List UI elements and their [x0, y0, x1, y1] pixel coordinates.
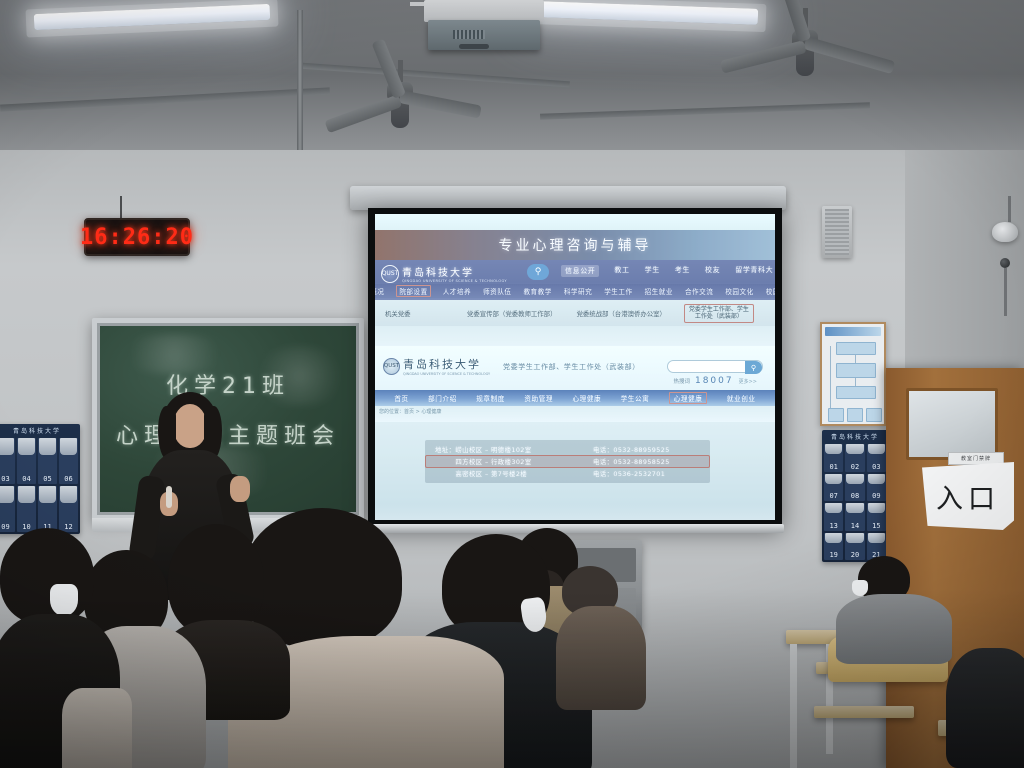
presenter-remote — [166, 486, 172, 508]
projector-vent — [453, 30, 485, 39]
site-main-nav: 学校概况 院部设置 人才培养 师资队伍 教育教学 科学研究 学生工作 招生就业 … — [375, 284, 775, 298]
projector-screen-housing — [350, 186, 786, 210]
clock-body: 16:26:20 — [84, 218, 190, 256]
ceiling-projector — [424, 0, 544, 52]
breadcrumb-bar: 您的位置：首页 > 心理健康 — [375, 406, 775, 422]
led-wall-clock: 16:26:20 — [84, 218, 190, 256]
pocket-slot[interactable]: 03 — [0, 438, 15, 484]
contact-row: 高密校区 – 第7号楼2楼 电话：0536-2532701 — [425, 468, 710, 479]
pocket-number: 09 — [872, 492, 880, 500]
pocket-slot[interactable]: 11 — [38, 486, 57, 532]
pocket-slot[interactable]: 15 — [867, 503, 886, 531]
projector-mount — [410, 2, 424, 6]
pocket-slot[interactable]: 04 — [17, 438, 36, 484]
hot-search-label: 热搜词 — [673, 377, 690, 385]
dept-item-0[interactable]: 党委宣传部（党委教师工作部） — [467, 309, 556, 318]
hot-search: 热搜词 18007 更多>> — [673, 376, 757, 386]
projection-screen-surface: 专业心理咨询与辅导 QUST 青岛科技大学 QINGDAO UNIVERSITY… — [375, 214, 775, 520]
student-torso — [836, 594, 952, 664]
pocket-slot[interactable]: 06 — [59, 438, 78, 484]
dept-nav-1[interactable]: 部门介绍 — [428, 393, 457, 403]
nav-item-7[interactable]: 招生就业 — [645, 286, 673, 296]
poster-node — [866, 408, 882, 422]
ceiling-fan — [340, 60, 460, 140]
department-university-name-en: QINGDAO UNIVERSITY OF SCIENCE & TECHNOLO… — [403, 372, 490, 376]
nav-item-9[interactable]: 校园文化 — [725, 286, 753, 296]
hot-search-more[interactable]: 更多>> — [739, 378, 757, 385]
contact-card: 地址：崂山校区 – 明德楼102室 电话：0532-88959525 四方校区 … — [425, 440, 710, 483]
dept-nav-5[interactable]: 学生公寓 — [621, 393, 650, 403]
pocket-chart-title: 青岛科技大学 — [822, 432, 888, 441]
pocket-chart-title: 青岛科技大学 — [0, 426, 80, 435]
department-title: 党委学生工作部、学生工作处（武装部） — [503, 362, 640, 372]
pocket-slot[interactable]: 02 — [845, 444, 864, 472]
pocket-number: 01 — [829, 463, 837, 471]
desk-leg — [790, 644, 797, 768]
department-site-header: QUST 青岛科技大学 QINGDAO UNIVERSITY OF SCIENC… — [375, 346, 775, 390]
department-row: 机关党委 党委宣传部（党委教师工作部） 党委统战部（台港澳侨办公室） 党委学生工… — [375, 300, 775, 326]
clock-cable — [120, 196, 122, 218]
contact-address: 高密校区 – 第7号楼2楼 — [435, 469, 585, 478]
site-top-strip — [375, 214, 775, 230]
site-header: QUST 青岛科技大学 QINGDAO UNIVERSITY OF SCIENC… — [375, 260, 775, 300]
pocket-number: 08 — [851, 492, 859, 500]
poster-connector — [830, 346, 831, 408]
instructor-face — [173, 404, 207, 448]
projector-top-plate — [424, 0, 544, 22]
department-logo[interactable]: QUST 青岛科技大学 QINGDAO UNIVERSITY OF SCIENC… — [383, 356, 490, 376]
contact-phone: 电话：0532-88959525 — [593, 445, 670, 454]
projected-website: 专业心理咨询与辅导 QUST 青岛科技大学 QINGDAO UNIVERSITY… — [375, 214, 775, 520]
pocket-slot[interactable]: 05 — [38, 438, 57, 484]
university-seal-icon: QUST — [381, 265, 399, 283]
pocket-number: 03 — [1, 475, 9, 483]
door-window — [906, 388, 998, 460]
department-university-name: 青岛科技大学 — [403, 356, 490, 372]
student — [946, 648, 1024, 768]
face-mask — [50, 584, 78, 616]
quick-link-alumni[interactable]: 校友 — [705, 265, 720, 277]
pocket-slot[interactable]: 09 — [867, 474, 886, 502]
contact-phone: 电话：0536-2532701 — [593, 469, 665, 478]
hanging-pole — [297, 10, 303, 160]
poster-connector — [855, 355, 856, 363]
contact-address: 四方校区 – 行政楼302室 — [435, 457, 585, 466]
contact-row-highlighted: 四方校区 – 行政楼302室 电话：0532-88958525 — [425, 455, 710, 468]
pocket-slot[interactable]: 10 — [17, 486, 36, 532]
presentation-banner: 专业心理咨询与辅导 — [375, 230, 775, 260]
dept-nav-3[interactable]: 资助管理 — [524, 393, 553, 403]
pocket-slot[interactable]: 01 — [824, 444, 843, 472]
pocket-number: 02 — [851, 463, 859, 471]
nav-item-3[interactable]: 师资队伍 — [483, 286, 511, 296]
ceiling-fan — [740, 8, 870, 88]
pocket-number: 15 — [872, 522, 880, 530]
student — [836, 556, 956, 656]
dept-nav-6-active[interactable]: 心理健康 — [669, 392, 708, 404]
student-torso — [946, 648, 1024, 768]
contact-phone: 电话：0532-88958525 — [593, 457, 670, 466]
pocket-number: 04 — [22, 475, 30, 483]
quick-link-applicant[interactable]: 考生 — [675, 265, 690, 277]
phone-pocket-chart-right: 青岛科技大学 01 02 03 07 08 09 13 14 15 19 20 … — [822, 430, 888, 562]
door-plate-text: 教室门禁牌 — [961, 455, 991, 462]
university-name: 青岛科技大学 — [402, 264, 507, 279]
pocket-slot[interactable]: 12 — [59, 486, 78, 532]
search-icon[interactable]: ⚲ — [745, 361, 762, 374]
site-quick-links: 信息公开 教工 学生 考生 校友 留学青科大 ENGLISH — [561, 265, 775, 277]
banner-title: 专业心理咨询与辅导 — [499, 235, 652, 255]
dept-nav-4[interactable]: 心理健康 — [572, 393, 601, 403]
pocket-slot[interactable]: 08 — [845, 474, 864, 502]
poster-node — [828, 408, 844, 422]
quick-link-staff[interactable]: 教工 — [614, 265, 629, 277]
quick-link-student[interactable]: 学生 — [645, 265, 660, 277]
pocket-number: 05 — [43, 475, 51, 483]
pocket-slot[interactable]: 03 — [867, 444, 886, 472]
camera-mount — [1008, 196, 1011, 222]
nav-item-6[interactable]: 学生工作 — [604, 286, 632, 296]
quick-link-international[interactable]: 留学青科大 — [735, 265, 773, 277]
poster-node — [847, 408, 863, 422]
pocket-slot[interactable]: 09 — [0, 486, 15, 532]
nav-item-8[interactable]: 合作交流 — [685, 286, 713, 296]
breadcrumb: 您的位置：首页 > 心理健康 — [379, 408, 441, 415]
university-seal-icon: QUST — [383, 358, 400, 375]
poster-connector — [855, 378, 856, 386]
student-torso — [556, 606, 646, 710]
camera-mount — [1004, 268, 1007, 316]
projector-lens — [459, 44, 489, 49]
phone-pocket-chart-left: 青岛科技大学 03 04 05 06 09 10 11 12 — [0, 424, 80, 534]
poster-node — [836, 386, 876, 399]
nav-item-1[interactable]: 院部设置 — [396, 285, 430, 297]
pocket-slot[interactable]: 14 — [845, 503, 864, 531]
flowchart-poster — [820, 322, 886, 426]
projector-body — [428, 20, 540, 50]
speaker-grill — [825, 209, 849, 255]
door-plate: 教室门禁牌 — [948, 452, 1004, 465]
site-divider — [375, 326, 775, 346]
pocket-number: 14 — [851, 522, 859, 530]
student — [556, 566, 646, 696]
site-content: 地址：崂山校区 – 明德楼102室 电话：0532-88959525 四方校区 … — [375, 422, 775, 520]
poster-node — [836, 363, 876, 378]
university-logo[interactable]: QUST 青岛科技大学 QINGDAO UNIVERSITY OF SCIENC… — [381, 264, 507, 283]
student — [0, 528, 130, 768]
pocket-number: 07 — [829, 492, 837, 500]
dept-item-highlighted[interactable]: 党委学生工作部、学生工作处（武装部） — [684, 304, 754, 323]
university-name-en: QINGDAO UNIVERSITY OF SCIENCE & TECHNOLO… — [402, 279, 507, 283]
projection-screen: 专业心理咨询与辅导 QUST 青岛科技大学 QINGDAO UNIVERSITY… — [368, 208, 782, 526]
pocket-slot[interactable]: 13 — [824, 503, 843, 531]
student-desk-shelf — [814, 706, 914, 718]
camera-lens-icon — [1000, 258, 1010, 268]
face-mask — [852, 580, 868, 596]
contact-address: 地址：崂山校区 – 明德楼102室 — [435, 445, 585, 454]
pocket-number: 06 — [64, 475, 72, 483]
nav-item-2[interactable]: 人才培养 — [443, 286, 471, 296]
nav-item-5[interactable]: 科学研究 — [564, 286, 592, 296]
search-icon[interactable]: ⚲ — [527, 264, 549, 280]
dept-nav-2[interactable]: 规章制度 — [476, 393, 505, 403]
ceiling-dome-light — [992, 222, 1018, 242]
dept-nav-7[interactable]: 就业创业 — [727, 393, 756, 403]
contact-row: 地址：崂山校区 – 明德楼102室 电话：0532-88959525 — [425, 444, 710, 455]
pocket-number: 13 — [829, 522, 837, 530]
nav-item-4[interactable]: 教育教学 — [523, 286, 551, 296]
nav-item-0[interactable]: 学校概况 — [375, 286, 384, 296]
hot-search-value: 18007 — [695, 376, 734, 386]
dept-nav-0[interactable]: 首页 — [394, 393, 408, 403]
student-hair — [0, 528, 94, 624]
poster-header — [825, 327, 881, 336]
pocket-grid: 03 04 05 06 09 10 11 12 — [0, 438, 78, 532]
dept-label[interactable]: 机关党委 — [385, 309, 449, 318]
search-input[interactable]: ⚲ — [667, 360, 763, 373]
nav-item-10[interactable]: 校园服务 — [766, 286, 775, 296]
poster-node — [836, 342, 876, 355]
classroom-scene: 16:26:20 化学21班 心理健康主题班会 专业心理咨询与辅导 — [0, 0, 1024, 768]
quick-link-info[interactable]: 信息公开 — [561, 265, 599, 277]
instructor-hand-right — [230, 476, 250, 502]
student-bag — [62, 688, 132, 768]
pocket-number: 03 — [872, 463, 880, 471]
entrance-sign-text: 入口 — [936, 477, 1000, 516]
entrance-sign: 入口 — [922, 462, 1014, 530]
pocket-slot[interactable]: 07 — [824, 474, 843, 502]
pocket-grid: 01 02 03 07 08 09 13 14 15 19 20 21 — [824, 444, 886, 560]
department-nav: 首页 部门介绍 规章制度 资助管理 心理健康 学生公寓 心理健康 就业创业 — [375, 390, 775, 406]
dept-item-1[interactable]: 党委统战部（台港澳侨办公室） — [576, 309, 665, 318]
wall-speaker — [822, 206, 852, 258]
clock-time: 16:26:20 — [80, 225, 194, 250]
